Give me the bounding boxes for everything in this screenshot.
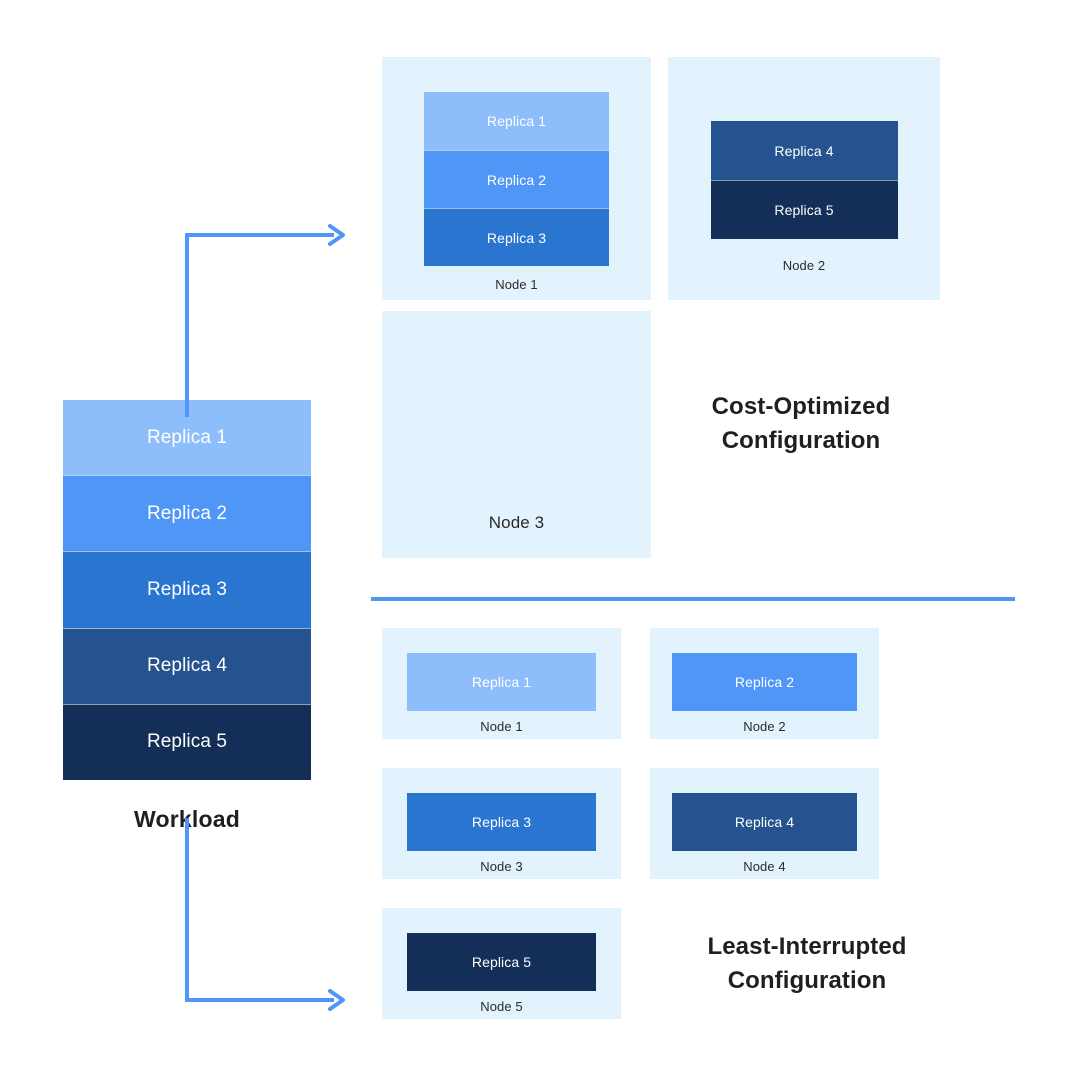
cost-optimized-title-line-2: Configuration <box>660 424 942 458</box>
least-interrupted-node-1-replicas: Replica 1 <box>407 653 596 711</box>
least-interrupted-node-5-replica-5: Replica 5 <box>407 933 596 991</box>
replica-label: Replica 5 <box>472 954 531 970</box>
cost-optimized-node-2-replica-5: Replica 5 <box>711 180 898 239</box>
arrow-to-cost-optimized <box>150 210 380 420</box>
least-interrupted-node-4-replica-4: Replica 4 <box>672 793 857 851</box>
workload-replica-2: Replica 2 <box>63 475 311 551</box>
least-interrupted-node-3-replica-3: Replica 3 <box>407 793 596 851</box>
cost-optimized-node-2-replica-4: Replica 4 <box>711 121 898 180</box>
cost-optimized-node-1-replica-1: Replica 1 <box>424 92 609 150</box>
cost-optimized-title-line-1: Cost-Optimized <box>660 390 942 424</box>
replica-label: Replica 1 <box>487 113 546 129</box>
least-interrupted-node-3: Replica 3 Node 3 <box>382 768 621 879</box>
workload-replica-1-label: Replica 1 <box>147 427 227 449</box>
workload-replica-4: Replica 4 <box>63 628 311 704</box>
arrow-bottom-path <box>187 820 332 1000</box>
cost-optimized-node-1-replica-2: Replica 2 <box>424 150 609 208</box>
least-interrupted-title-line-1: Least-Interrupted <box>663 930 951 964</box>
least-interrupted-node-4: Replica 4 Node 4 <box>650 768 879 879</box>
least-interrupted-node-2-label: Node 2 <box>743 719 786 734</box>
least-interrupted-node-4-label: Node 4 <box>743 859 786 874</box>
replica-label: Replica 3 <box>472 814 531 830</box>
least-interrupted-title-line-2: Configuration <box>663 964 951 998</box>
least-interrupted-node-5-replicas: Replica 5 <box>407 933 596 991</box>
cost-optimized-node-1-label: Node 1 <box>495 277 538 292</box>
least-interrupted-node-1-label: Node 1 <box>480 719 523 734</box>
cost-optimized-node-2-replicas: Replica 4 Replica 5 <box>711 121 898 239</box>
cost-optimized-title: Cost-Optimized Configuration <box>660 390 942 458</box>
least-interrupted-node-4-replicas: Replica 4 <box>672 793 857 851</box>
replica-label: Replica 2 <box>487 172 546 188</box>
cost-optimized-node-3-label: Node 3 <box>489 513 544 533</box>
least-interrupted-node-3-label: Node 3 <box>480 859 523 874</box>
replica-label: Replica 4 <box>735 814 794 830</box>
least-interrupted-node-5-label: Node 5 <box>480 999 523 1014</box>
workload-replica-stack: Replica 1 Replica 2 Replica 3 Replica 4 … <box>63 400 311 780</box>
least-interrupted-node-1: Replica 1 Node 1 <box>382 628 621 739</box>
arrow-to-least-interrupted <box>150 815 380 1025</box>
workload-replica-3: Replica 3 <box>63 551 311 627</box>
cost-optimized-node-3-empty: Node 3 <box>382 311 651 558</box>
arrow-top-path <box>187 235 332 415</box>
workload-replica-5-label: Replica 5 <box>147 731 227 753</box>
cost-optimized-node-2: Replica 4 Replica 5 Node 2 <box>668 57 940 300</box>
replica-label: Replica 4 <box>774 143 833 159</box>
least-interrupted-node-2-replica-2: Replica 2 <box>672 653 857 711</box>
section-divider <box>371 597 1015 601</box>
cost-optimized-node-1-replica-3: Replica 3 <box>424 208 609 266</box>
workload-replica-3-label: Replica 3 <box>147 579 227 601</box>
replica-label: Replica 2 <box>735 674 794 690</box>
cost-optimized-node-1: Replica 1 Replica 2 Replica 3 Node 1 <box>382 57 651 300</box>
replica-label: Replica 3 <box>487 230 546 246</box>
replica-label: Replica 5 <box>774 202 833 218</box>
least-interrupted-title: Least-Interrupted Configuration <box>663 930 951 998</box>
workload-replica-4-label: Replica 4 <box>147 655 227 677</box>
workload-replica-2-label: Replica 2 <box>147 503 227 525</box>
least-interrupted-node-5: Replica 5 Node 5 <box>382 908 621 1019</box>
workload-replica-5: Replica 5 <box>63 704 311 780</box>
cost-optimized-node-2-label: Node 2 <box>783 258 826 273</box>
least-interrupted-node-3-replicas: Replica 3 <box>407 793 596 851</box>
least-interrupted-node-1-replica-1: Replica 1 <box>407 653 596 711</box>
diagram-canvas: Replica 1 Replica 2 Replica 3 Replica 4 … <box>0 0 1080 1080</box>
least-interrupted-node-2-replicas: Replica 2 <box>672 653 857 711</box>
least-interrupted-node-2: Replica 2 Node 2 <box>650 628 879 739</box>
cost-optimized-node-1-replicas: Replica 1 Replica 2 Replica 3 <box>424 92 609 266</box>
replica-label: Replica 1 <box>472 674 531 690</box>
